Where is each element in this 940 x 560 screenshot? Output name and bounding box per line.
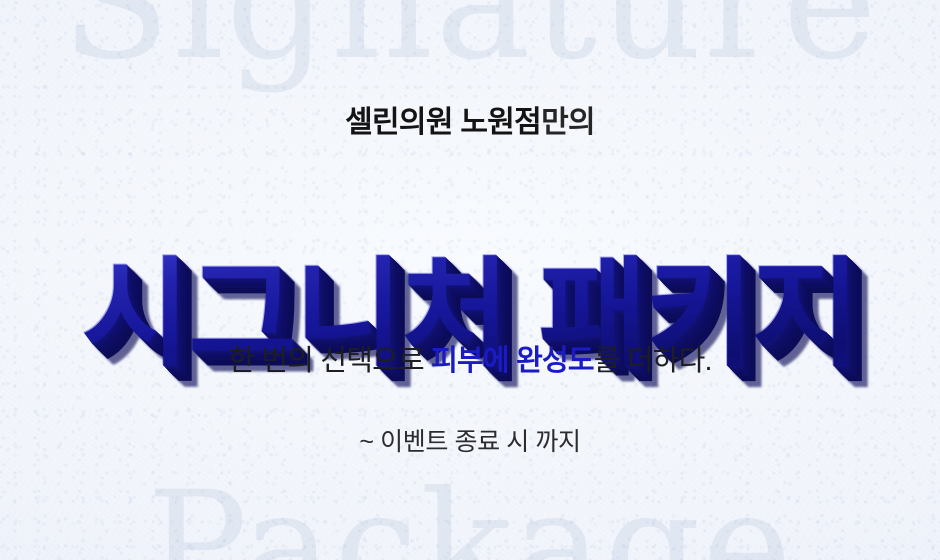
event-period-note: ~ 이벤트 종료 시 까지: [0, 424, 940, 460]
eyebrow-clinic-name: 셀린의원 노원점: [345, 106, 541, 139]
subcopy-lead: 한 번의 선택으로: [228, 345, 431, 377]
subcopy-line: 한 번의 선택으로 피부에 완성도를 더하다.: [0, 340, 940, 382]
subcopy-highlight: 피부에 완성도: [431, 345, 594, 377]
banner-content: 셀린의원 노원점만의 시그니처 패키지 한 번의 선택으로 피부에 완성도를 더…: [0, 0, 940, 560]
subcopy-tail: 를 더하다.: [594, 345, 712, 377]
eyebrow-suffix: 만의: [541, 106, 595, 139]
promo-banner: Signature Package 셀린의원 노원점만의 시그니처 패키지 한 …: [0, 0, 940, 560]
eyebrow-line: 셀린의원 노원점만의: [0, 103, 940, 143]
